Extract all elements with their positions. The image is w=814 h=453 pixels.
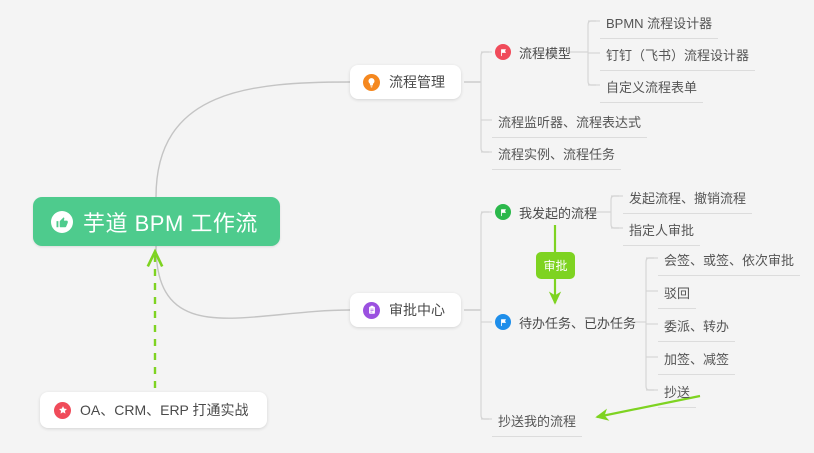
- leaf-node-countersign[interactable]: 会签、或签、依次审批: [658, 247, 800, 276]
- leaf-label-custom-form: 自定义流程表单: [606, 80, 697, 95]
- root-label: 芋道 BPM 工作流: [83, 206, 258, 238]
- bracket-my-initiated: [611, 196, 619, 228]
- thumbs-up-icon: [51, 211, 73, 233]
- branch-node-approval-center[interactable]: 审批中心: [350, 293, 461, 327]
- leaf-label-process-instance: 流程实例、流程任务: [498, 147, 615, 162]
- bracket-process-model: [588, 21, 596, 85]
- leaf-node-custom-form[interactable]: 自定义流程表单: [600, 74, 703, 103]
- leaf-node-cc-to-me[interactable]: 抄送我的流程: [492, 408, 582, 437]
- leaf-label-cc-to-me: 抄送我的流程: [498, 414, 576, 429]
- leaf-label-countersign: 会签、或签、依次审批: [664, 253, 794, 268]
- link-root-to-approval-center: [156, 246, 350, 318]
- leaf-label-bpmn-designer: BPMN 流程设计器: [606, 16, 712, 31]
- leaf-label-start-cancel-process: 发起流程、撤销流程: [629, 191, 746, 206]
- leaf-label-cc: 抄送: [664, 385, 690, 400]
- root-node[interactable]: 芋道 BPM 工作流: [33, 197, 280, 246]
- bracket-approval-center: [481, 212, 489, 419]
- leaf-node-assignee-approval[interactable]: 指定人审批: [623, 217, 700, 246]
- leaf-node-process-instance[interactable]: 流程实例、流程任务: [492, 141, 621, 170]
- leaf-node-process-listener[interactable]: 流程监听器、流程表达式: [492, 109, 647, 138]
- group-label-process-model: 流程模型: [519, 43, 571, 62]
- group-node-my-initiated[interactable]: 我发起的流程: [495, 201, 597, 223]
- group-label-todo-done-tasks: 待办任务、已办任务: [519, 313, 636, 332]
- leaf-node-add-remove-sign[interactable]: 加签、减签: [658, 346, 735, 375]
- group-label-my-initiated: 我发起的流程: [519, 203, 597, 222]
- leaf-node-delegate-transfer[interactable]: 委派、转办: [658, 313, 735, 342]
- leaf-node-dingtalk-designer[interactable]: 钉钉（飞书）流程设计器: [600, 42, 755, 71]
- leaf-label-process-listener: 流程监听器、流程表达式: [498, 115, 641, 130]
- bracket-process-management: [481, 52, 489, 152]
- leaf-label-dingtalk-designer: 钉钉（飞书）流程设计器: [606, 48, 749, 63]
- leaf-label-add-remove-sign: 加签、减签: [664, 352, 729, 367]
- link-root-to-process-management: [156, 82, 350, 197]
- flag-icon: [495, 204, 511, 220]
- flag-icon: [495, 314, 511, 330]
- star-icon: [54, 402, 71, 419]
- leaf-label-reject: 驳回: [664, 286, 690, 301]
- branch-label-approval-center: 审批中心: [389, 300, 445, 320]
- note-label-integration: OA、CRM、ERP 打通实战: [80, 400, 249, 420]
- clipboard-icon: [363, 302, 380, 319]
- branch-label-process-management: 流程管理: [389, 72, 445, 92]
- note-node-integration[interactable]: OA、CRM、ERP 打通实战: [40, 392, 267, 428]
- leaf-label-delegate-transfer: 委派、转办: [664, 319, 729, 334]
- branch-node-process-management[interactable]: 流程管理: [350, 65, 461, 99]
- leaf-node-cc[interactable]: 抄送: [658, 379, 696, 408]
- leaf-node-reject[interactable]: 驳回: [658, 280, 696, 309]
- leaf-label-assignee-approval: 指定人审批: [629, 223, 694, 238]
- group-node-process-model[interactable]: 流程模型: [495, 41, 571, 63]
- bracket-todo-done: [646, 258, 654, 390]
- callout-label-approval: 审批: [543, 257, 567, 274]
- group-node-todo-done-tasks[interactable]: 待办任务、已办任务: [495, 311, 636, 333]
- leaf-node-start-cancel-process[interactable]: 发起流程、撤销流程: [623, 185, 752, 214]
- lightbulb-icon: [363, 74, 380, 91]
- callout-approval[interactable]: 审批: [536, 252, 575, 279]
- mindmap-canvas: 芋道 BPM 工作流 流程管理 审批中心: [0, 0, 814, 453]
- flag-icon: [495, 44, 511, 60]
- leaf-node-bpmn-designer[interactable]: BPMN 流程设计器: [600, 10, 718, 39]
